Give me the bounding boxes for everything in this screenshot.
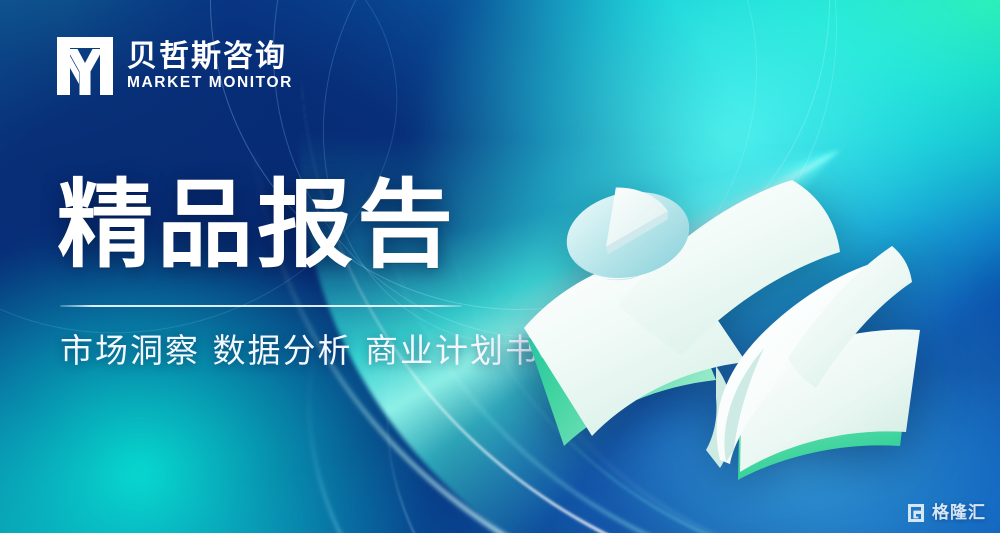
- page-subtitle: 市场洞察 数据分析 商业计划书: [60, 330, 540, 373]
- brand-name-en: MARKET MONITOR: [127, 75, 293, 91]
- m-bracket-logo-icon: [57, 37, 113, 95]
- brand-logo[interactable]: 贝哲斯咨询 MARKET MONITOR: [57, 37, 293, 95]
- brand-name-cn: 贝哲斯咨询: [127, 42, 293, 72]
- watermark-label: 格隆汇: [932, 505, 986, 522]
- open-book-icon: [520, 150, 960, 450]
- page-title: 精品报告: [57, 176, 457, 276]
- gelonghui-g-icon: [906, 503, 926, 523]
- report-banner: 贝哲斯咨询 MARKET MONITOR 精品报告 市场洞察 数据分析 商业计划…: [0, 0, 1000, 533]
- open-book-illustration: [520, 150, 960, 450]
- title-divider: [60, 305, 462, 307]
- watermark: 格隆汇: [906, 503, 986, 523]
